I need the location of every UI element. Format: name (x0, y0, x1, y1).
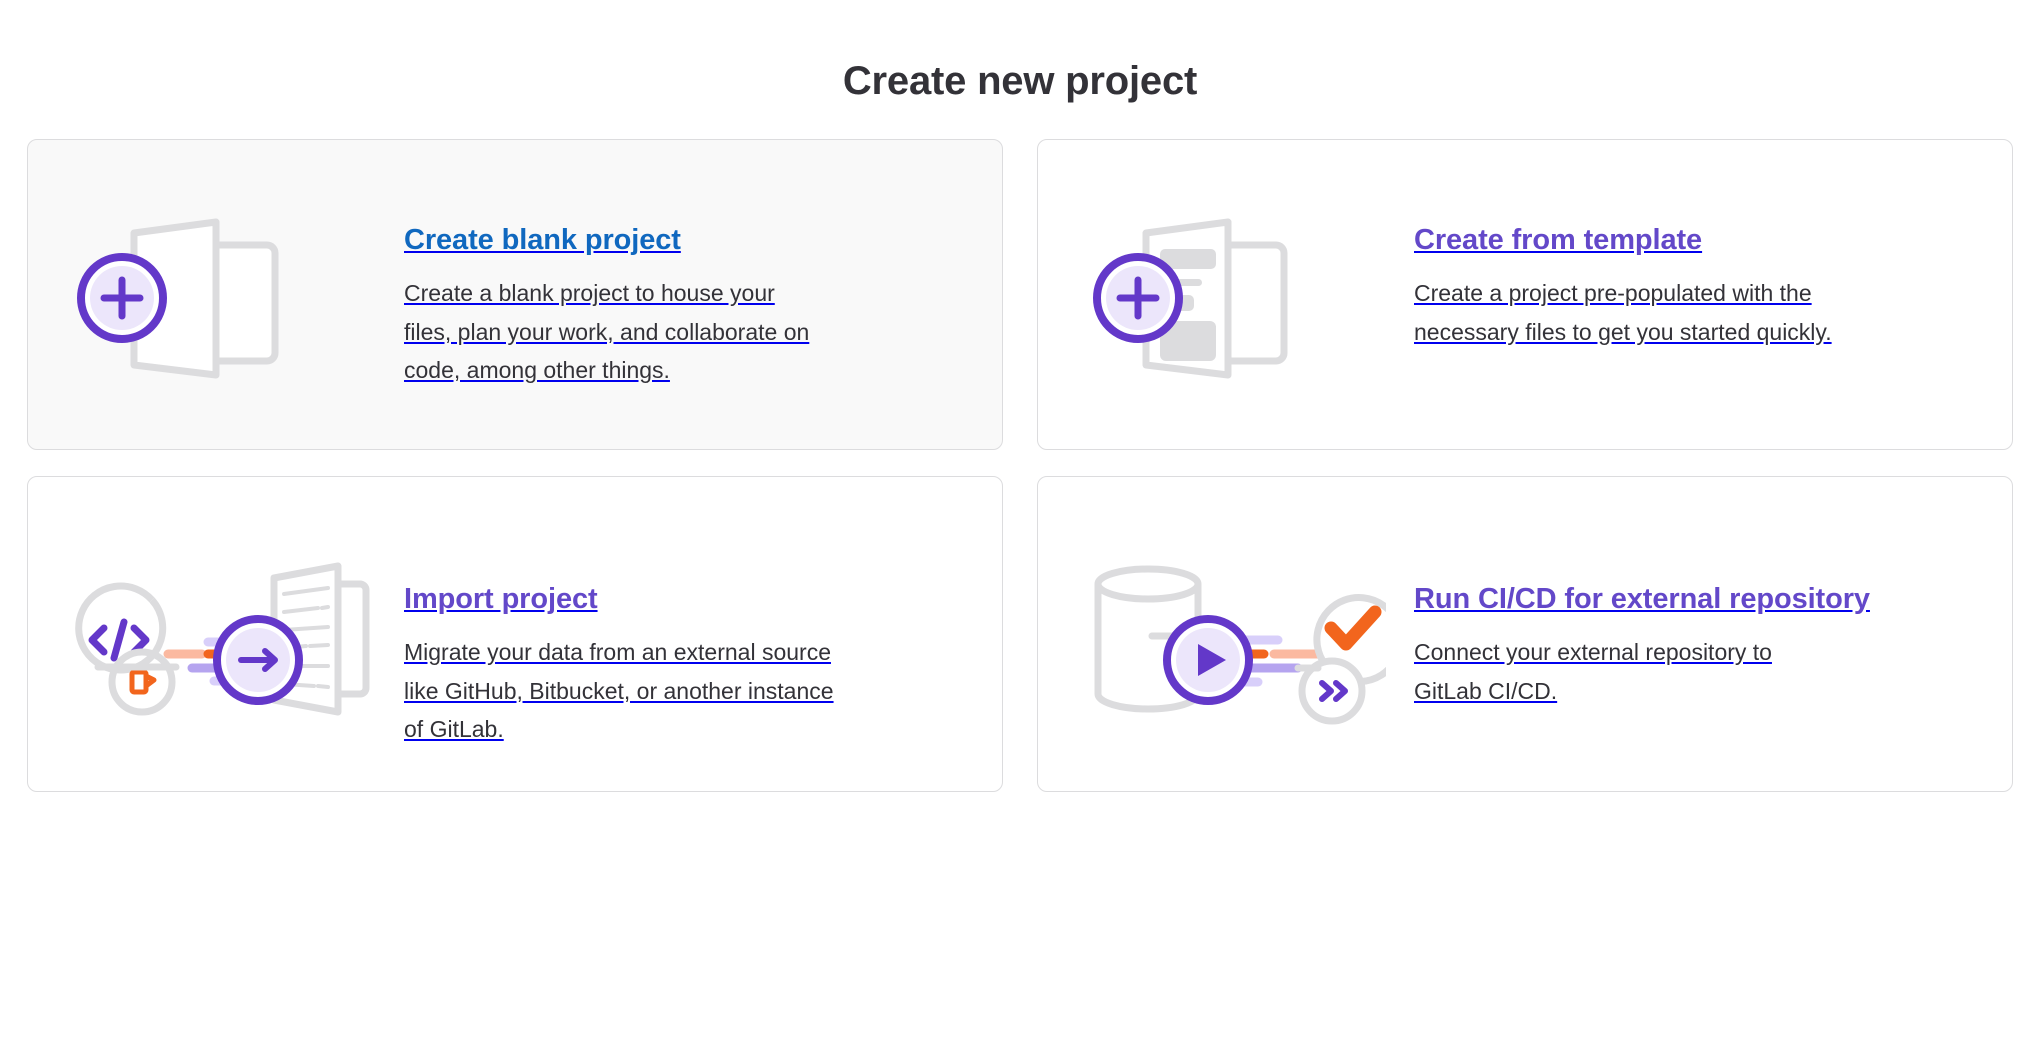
card-body: Create blank project Create a blank proj… (404, 140, 1002, 390)
folder-plus-icon (28, 140, 404, 449)
create-new-project-page: Create new project (0, 0, 2040, 1059)
card-run-cicd-external-repository[interactable]: Run CI/CD for external repository Connec… (1037, 476, 2013, 792)
card-title: Create from template (1414, 220, 1952, 260)
card-title: Run CI/CD for external repository (1414, 579, 1952, 619)
card-title: Import project (404, 579, 942, 619)
card-description: Create a project pre-populated with the … (1414, 274, 1844, 351)
card-body: Create from template Create a project pr… (1414, 140, 2012, 351)
card-body: Import project Migrate your data from an… (404, 477, 1002, 749)
card-description: Connect your external repository to GitL… (1414, 633, 1844, 710)
card-create-blank-project[interactable]: Create blank project Create a blank proj… (27, 139, 1003, 450)
project-type-card-grid: Create blank project Create a blank proj… (27, 139, 2013, 792)
cicd-play-icon (1038, 477, 1414, 791)
card-description: Migrate your data from an external sourc… (404, 633, 834, 749)
template-plus-icon (1038, 140, 1414, 449)
card-import-project[interactable]: Import project Migrate your data from an… (27, 476, 1003, 792)
card-body: Run CI/CD for external repository Connec… (1414, 477, 2012, 710)
import-arrow-icon (28, 477, 404, 791)
card-create-from-template[interactable]: Create from template Create a project pr… (1037, 139, 2013, 450)
page-title: Create new project (0, 57, 2040, 105)
card-description: Create a blank project to house your fil… (404, 274, 824, 390)
card-title: Create blank project (404, 220, 942, 260)
